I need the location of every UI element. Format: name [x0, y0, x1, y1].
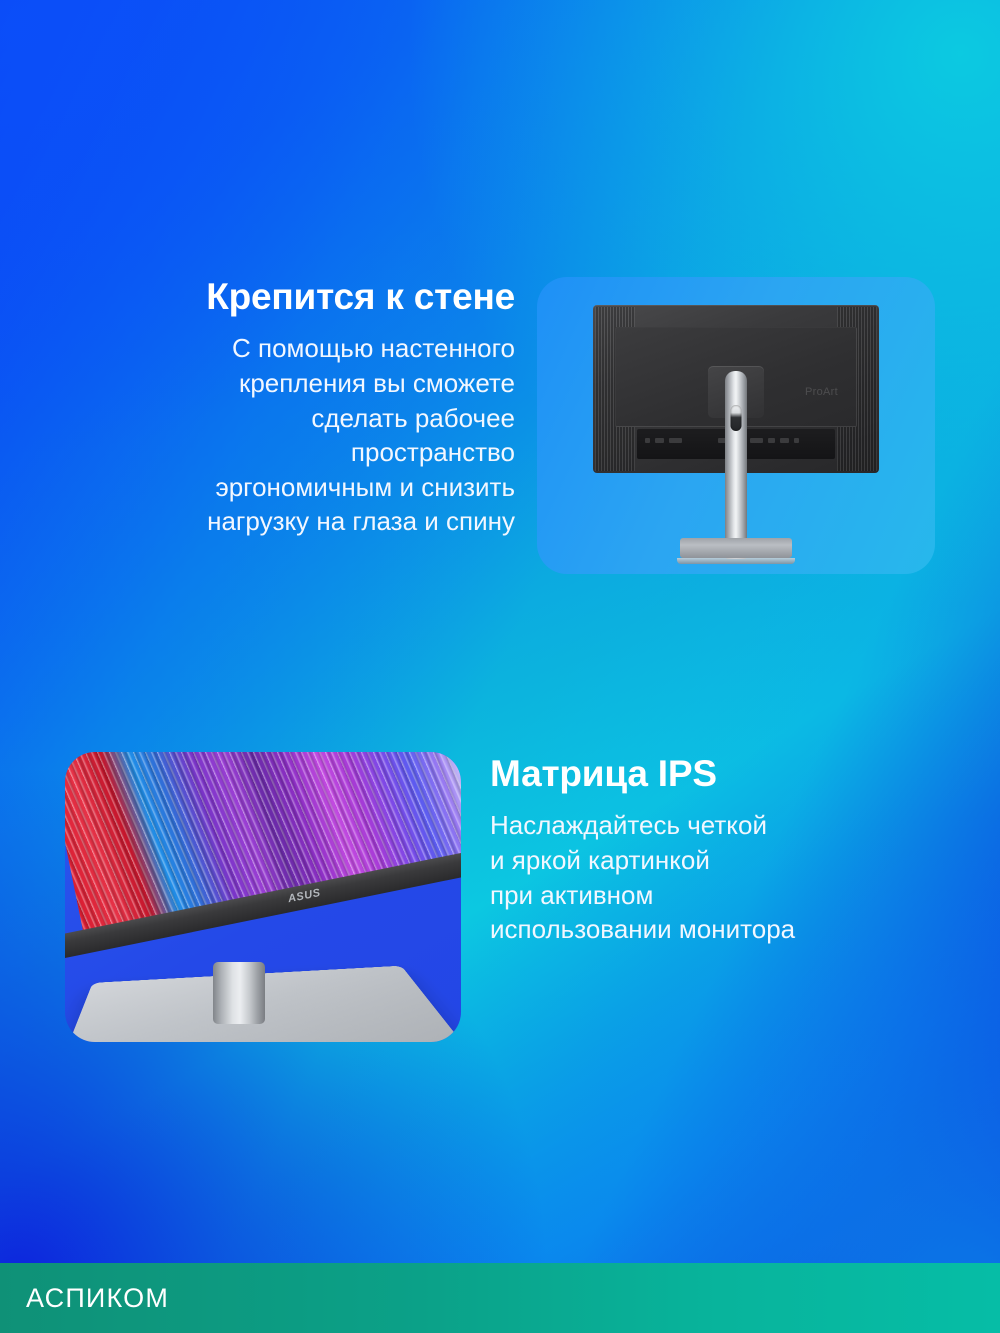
port-icon [655, 438, 664, 443]
ips-matrix-image-card: ASUS [65, 752, 461, 1042]
body-line: нагрузку на глаза и спину [110, 504, 515, 539]
port-icon [645, 438, 650, 443]
port-spacer [687, 438, 713, 443]
monitor-stand-neck [725, 371, 747, 559]
body-line: использовании монитора [490, 912, 910, 947]
body-line: при активном [490, 878, 910, 913]
cable-management-hole [731, 405, 742, 431]
wall-mount-headline: Крепится к стене [110, 276, 515, 317]
asus-logo: ASUS [287, 887, 322, 905]
body-line: пространство [110, 435, 515, 470]
proart-logo: ProArt [805, 386, 838, 398]
wall-mount-image-card: ProArt [537, 277, 935, 574]
body-line: сделать рабочее [110, 401, 515, 436]
body-line: Наслаждайтесь четкой [490, 808, 910, 843]
port-icon [768, 438, 775, 443]
ips-matrix-body: Наслаждайтесь четкой и яркой картинкой п… [490, 808, 910, 946]
ips-matrix-headline: Матрица IPS [490, 753, 910, 794]
brand-name: АСПИКОМ [26, 1283, 169, 1314]
body-line: эргономичным и снизить [110, 470, 515, 505]
port-icon [794, 438, 799, 443]
monitor-stand-base [680, 538, 792, 558]
monitor-screen [65, 752, 461, 950]
monitor-stand-base-lip [677, 558, 795, 564]
monitor-neck-cylinder [213, 962, 265, 1024]
port-icon [669, 438, 682, 443]
infographic-page: Крепится к стене С помощью настенного кр… [0, 0, 1000, 1333]
port-icon [780, 438, 789, 443]
screen-wallpaper [65, 752, 461, 950]
body-line: С помощью настенного [110, 331, 515, 366]
port-icon [750, 438, 763, 443]
ips-matrix-text-block: Матрица IPS Наслаждайтесь четкой и яркой… [490, 753, 910, 947]
body-line: крепления вы сможете [110, 366, 515, 401]
footer-bar: АСПИКОМ [0, 1263, 1000, 1333]
body-line: и яркой картинкой [490, 843, 910, 878]
wall-mount-body: С помощью настенного крепления вы сможет… [110, 331, 515, 538]
wall-mount-text-block: Крепится к стене С помощью настенного кр… [110, 276, 515, 539]
